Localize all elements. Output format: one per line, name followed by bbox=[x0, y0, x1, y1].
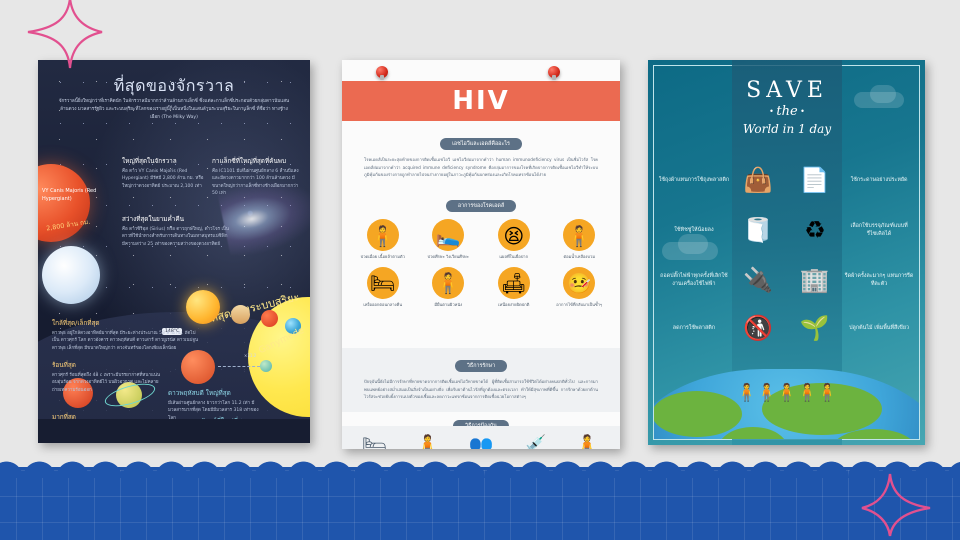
symptom-item: 😫 แผลที่ในเยื่อปาก bbox=[485, 219, 543, 260]
no-plastic-bottle-icon: 🚯 bbox=[730, 316, 787, 340]
poster-save-the-world[interactable]: SAVE the World in 1 day ใช้ถุงผ้าแทนการใ… bbox=[648, 60, 925, 445]
prevention-item: 💉 การใช้ยาต้านเชื้อเอชไอวี bbox=[509, 434, 559, 449]
planet-jupiter-large-icon bbox=[181, 350, 215, 384]
tip-text-right: ปลูกต้นไม้ เพิ่มพื้นที่สีเขียว bbox=[843, 324, 915, 332]
prevention-row: 🛏 ใช้ถุงยางอนามัยเมื่อมีเพศสัมพันธ์ 🧍 ไม… bbox=[342, 428, 620, 449]
symptoms-row-1: 🧍 ปวดเมื่อย เนื้อยล้าตามตัว 🛌 ปวดศีรษะ ว… bbox=[342, 219, 620, 260]
pushpin-right-icon bbox=[548, 66, 560, 78]
universe-block-hottest: ร้อนที่สุด ดาวศุกร์ ร้อนที่สุดถึง 48 c เ… bbox=[52, 360, 162, 394]
tip-text-left: ใช้ถุงผ้าแทนการใช้ถุงพลาสติก bbox=[658, 176, 730, 184]
title-the: the bbox=[732, 104, 842, 119]
universe-block-closest: ใกล้ที่สุด/เล็กที่สุด ดาวพุธ อยู่ใกล้ดวง… bbox=[52, 318, 202, 352]
moon-ganymede-icon bbox=[260, 360, 272, 372]
planet-mars-icon bbox=[261, 310, 278, 327]
screenshot-canvas: ที่สุดของจักรวาล จักรวาลนี้ยิ่งใหญ่กว่าท… bbox=[0, 0, 960, 540]
wave-band bbox=[0, 470, 960, 540]
prevention-item: 🧍 ตรวจสุขภาพเป็นประจำ bbox=[562, 434, 612, 449]
block-body: คือ IC1101 มีเส้นผ่านศูนย์กลาง 6 ล้านปีแ… bbox=[212, 168, 304, 198]
skin-rash-icon: 🧍 bbox=[432, 267, 464, 299]
earth-illustration: 🧍🧍🧍🧍🧍 bbox=[654, 343, 919, 439]
mouth-sore-icon: 😫 bbox=[498, 219, 530, 251]
tip-text-right: รีดผ้าครั้งละมากๆ แทนการรีดทีละตัว bbox=[843, 272, 915, 289]
block-heading: กาแล็กซี่ที่ใหญ่ที่สุดที่ค้นพบ bbox=[212, 156, 304, 166]
hiv-section-symptoms: อาการของโรคเอดส์ 🧍 ปวดเมื่อย เนื้อยล้าตา… bbox=[342, 192, 620, 307]
hiv-definition-text: โรคเอดส์เป็นระยะสุดท้ายของการติดเชื้อเอช… bbox=[342, 156, 620, 179]
save-the-world-heading: SAVE the World in 1 day bbox=[732, 80, 842, 136]
comparison-dotted-line bbox=[218, 366, 260, 367]
block-body: ดาวพุธ อยู่ใกล้ดวงอาทิตย์มากที่สุด มีระย… bbox=[52, 330, 202, 352]
symptom-item: 🛋 เหนื่อยง่ายผิดปกติ bbox=[485, 267, 543, 308]
symptom-item: 🧍 ต่อมน้ำเหลืองบวม bbox=[550, 219, 608, 260]
universe-title: ที่สุดของจักรวาล bbox=[38, 74, 310, 99]
block-heading: ดาวพฤหัสบดี ใหญ่ที่สุด bbox=[168, 388, 266, 398]
symptom-item: 🤒 อาการไข้ที่กลับมาเป็นซ้ำๆ bbox=[550, 267, 608, 308]
badge-symptoms: อาการของโรคเอดส์ bbox=[446, 200, 516, 212]
prevention-item: 🛏 ใช้ถุงยางอนามัยเมื่อมีเพศสัมพันธ์ bbox=[350, 434, 400, 449]
hiv-treatment-text: ปัจจุบันนี้ยังไม่มีการรักษาที่หายขาดจากก… bbox=[342, 378, 620, 401]
tip-row-2: ใช้ทิชชู่ให้น้อยลง 🧻 ♻ เลือกใช้บรรจุภัณฑ… bbox=[658, 206, 915, 254]
sirius-star-illustration bbox=[42, 246, 100, 304]
person-headache-icon: 🛌 bbox=[432, 219, 464, 251]
antiviral-drug-icon: 💉 bbox=[509, 434, 559, 449]
symptom-label: ต่อมน้ำเหลืองบวม bbox=[550, 254, 608, 260]
tote-bag-icon: 👜 bbox=[730, 168, 787, 192]
title-save: SAVE bbox=[732, 80, 842, 102]
tissue-box-icon: 🧻 bbox=[730, 218, 787, 242]
lymph-node-icon: 🧍 bbox=[563, 219, 595, 251]
night-sweat-icon: 🛏 bbox=[367, 267, 399, 299]
poster-hiv[interactable]: HIV เอชไอวีและเอดส์คืออะไร โรคเอดส์เป็นร… bbox=[342, 60, 620, 449]
wave-scallop-edge bbox=[0, 456, 960, 478]
earth-globe bbox=[654, 369, 919, 439]
paper-stack-icon: 📄 bbox=[787, 168, 844, 192]
recurring-fever-icon: 🤒 bbox=[563, 267, 595, 299]
iron-clothes-icon: 🏢 bbox=[787, 268, 844, 292]
block-body: คือ ดาว VY Canis Majoris (Red Hypergiant… bbox=[122, 168, 206, 190]
tip-text-right: เลือกใช้บรรจุภัณฑ์แบบที่รีไซเคิลได้ bbox=[843, 222, 915, 239]
block-heading: ใกล้ที่สุด/เล็กที่สุด bbox=[52, 318, 202, 328]
block-heading: ร้อนที่สุด bbox=[52, 360, 162, 370]
hiv-section-treatment: วิธีการรักษา ปัจจุบันนี้ยังไม่มีการรักษา… bbox=[342, 352, 620, 401]
poster-universe[interactable]: ที่สุดของจักรวาล จักรวาลนี้ยิ่งใหญ่กว่าท… bbox=[38, 60, 310, 443]
symptom-label: อาการไข้ที่กลับมาเป็นซ้ำๆ bbox=[550, 302, 608, 308]
universe-block-largest: ใหญ่ที่สุดในจักรวาล คือ ดาว VY Canis Maj… bbox=[122, 156, 206, 190]
universe-intro-text: จักรวาลนี้ยิ่งใหญ่กว่าที่เราคิดนัก ในจัก… bbox=[56, 98, 292, 122]
tip-row-1: ใช้ถุงผ้าแทนการใช้ถุงพลาสติก 👜 📄 ใช้กระด… bbox=[658, 156, 915, 204]
tip-text-left: ลดการใช้พลาสติก bbox=[658, 324, 730, 332]
avoid-stranger-icon: 👥 bbox=[456, 434, 506, 449]
symptom-item: 🛌 ปวดศีรษะ วิงเวียนศีรษะ bbox=[419, 219, 477, 260]
planet-jupiter-icon bbox=[231, 305, 250, 324]
badge-what-is-hiv: เอชไอวีและเอดส์คืออะไร bbox=[440, 138, 522, 150]
symptom-label: เหงื่อออกตอนกลางคืน bbox=[354, 302, 412, 308]
universe-block-brightest: สว่างที่สุดในยามค่ำคืน คือ ดาวซิริอุส (S… bbox=[122, 214, 230, 248]
tip-text-right: ใช้กระดาษอย่างประหยัด bbox=[843, 176, 915, 184]
hiv-section-what-is: เอชไอวีและเอดส์คืออะไร โรคเอดส์เป็นระยะส… bbox=[342, 130, 620, 179]
fatigue-couch-icon: 🛋 bbox=[498, 267, 530, 299]
symptom-label: ปวดศีรษะ วิงเวียนศีรษะ bbox=[419, 254, 477, 260]
symptom-item: 🛏 เหงื่อออกตอนกลางคืน bbox=[354, 267, 412, 308]
universe-footer-bar bbox=[38, 419, 310, 443]
landmass bbox=[654, 391, 742, 437]
recycle-bag-icon: ♻ bbox=[787, 218, 844, 242]
symptom-label: ปวดเมื่อย เนื้อยล้าตามตัว bbox=[354, 254, 412, 260]
badge-treatment: วิธีการรักษา bbox=[455, 360, 507, 372]
cloud-icon bbox=[870, 85, 896, 103]
block-heading: ใหญ่ที่สุดในจักรวาล bbox=[122, 156, 206, 166]
universe-block-galaxy: กาแล็กซี่ที่ใหญ่ที่สุดที่ค้นพบ คือ IC110… bbox=[212, 156, 304, 198]
prevention-item: 👥 หลีกเลี่ยงการมีเพศสัมพันธ์กับคนแปลกหน้… bbox=[456, 434, 506, 449]
health-checkup-icon: 🧍 bbox=[562, 434, 612, 449]
plant-sprout-icon: 🌱 bbox=[787, 316, 844, 340]
block-body: คือ ดาวซิริอุส (Sirius) หรือ ดาวฤกษ์ใหญ่… bbox=[122, 226, 230, 248]
condom-bed-icon: 🛏 bbox=[350, 434, 400, 449]
ratio-label: ×11.2 bbox=[244, 353, 256, 358]
person-fatigue-icon: 🧍 bbox=[367, 219, 399, 251]
people-group-illustration: 🧍🧍🧍🧍🧍 bbox=[736, 383, 837, 403]
pushpin-left-icon bbox=[376, 66, 388, 78]
prevention-item: 🧍 ไม่ใช้เข็มฉีดยาร่วมกับผู้อื่น bbox=[403, 434, 453, 449]
symptoms-row-2: 🛏 เหงื่อออกตอนกลางคืน 🧍 มีผื่นตามผิวหนัง… bbox=[342, 267, 620, 308]
symptom-label: มีผื่นตามผิวหนัง bbox=[419, 302, 477, 308]
title-world-in-1-day: World in 1 day bbox=[732, 122, 842, 136]
tip-row-3: ถอดปลั๊กไฟฟ้าทุกครั้งที่เลิกใช้งานเครื่อ… bbox=[658, 256, 915, 304]
hiv-title: HIV bbox=[452, 86, 510, 116]
symptom-item: 🧍 มีผื่นตามผิวหนัง bbox=[419, 267, 477, 308]
tip-text-left: ถอดปลั๊กไฟฟ้าทุกครั้งที่เลิกใช้งานเครื่อ… bbox=[658, 272, 730, 289]
unplug-icon: 🔌 bbox=[730, 268, 787, 292]
symptom-label: แผลที่ในเยื่อปาก bbox=[485, 254, 543, 260]
red-hypergiant-label: VY Canis Majoris (Red Hypergiant) bbox=[42, 188, 104, 203]
block-heading: สว่างที่สุดในยามค่ำคืน bbox=[122, 214, 230, 224]
block-body: ดาวศุกร์ ร้อนที่สุดถึง 48 c เพราะมีบรรยา… bbox=[52, 372, 162, 394]
symptom-label: เหนื่อยง่ายผิดปกติ bbox=[485, 302, 543, 308]
tip-text-left: ใช้ทิชชู่ให้น้อยลง bbox=[658, 226, 730, 234]
no-shared-needle-icon: 🧍 bbox=[403, 434, 453, 449]
hiv-title-banner: HIV bbox=[342, 81, 620, 121]
symptom-item: 🧍 ปวดเมื่อย เนื้อยล้าตามตัว bbox=[354, 219, 412, 260]
